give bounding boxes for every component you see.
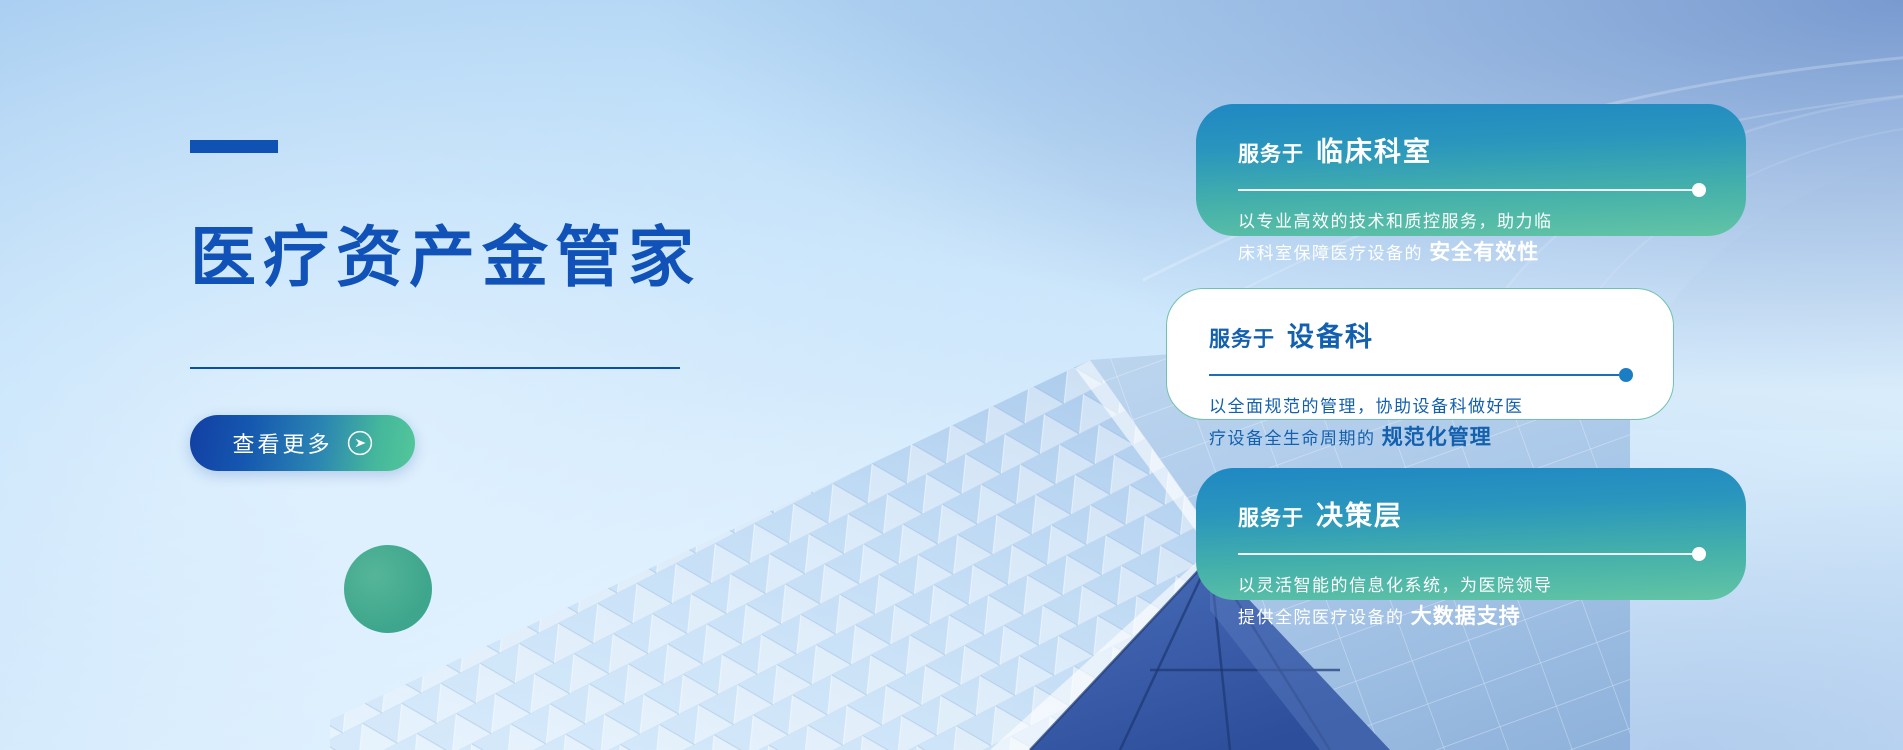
divider-dot bbox=[1619, 368, 1633, 382]
card-body-line-2-plain: 提供全院医疗设备的 bbox=[1238, 608, 1405, 627]
card-body: 以灵活智能的信息化系统，为医院领导 提供全院医疗设备的 大数据支持 bbox=[1238, 572, 1706, 634]
arrow-right-circle-icon bbox=[347, 430, 373, 456]
card-heading-main: 决策层 bbox=[1316, 494, 1403, 533]
page-title: 医疗资产金管家 bbox=[190, 221, 890, 295]
green-circle-decoration bbox=[344, 545, 432, 633]
hero-left-column: 医疗资产金管家 查看更多 bbox=[190, 140, 890, 471]
divider-line bbox=[1209, 374, 1619, 376]
card-heading-prefix: 服务于 bbox=[1209, 323, 1275, 353]
service-card-decision[interactable]: 服务于 决策层 以灵活智能的信息化系统，为医院领导 提供全院医疗设备的 大数据支… bbox=[1196, 468, 1746, 600]
divider-line bbox=[1238, 553, 1692, 555]
card-body-line-2-strong: 大数据支持 bbox=[1411, 605, 1521, 628]
card-heading-prefix: 服务于 bbox=[1238, 502, 1304, 532]
card-divider bbox=[1209, 368, 1633, 382]
card-body-line-2-plain: 床科室保障医疗设备的 bbox=[1238, 244, 1423, 263]
card-body-line-2-strong: 安全有效性 bbox=[1429, 241, 1539, 264]
view-more-label: 查看更多 bbox=[232, 427, 332, 459]
card-body-line-2-plain: 疗设备全生命周期的 bbox=[1209, 429, 1376, 448]
card-divider bbox=[1238, 183, 1706, 197]
divider-dot bbox=[1692, 547, 1706, 561]
divider-line bbox=[1238, 189, 1692, 191]
card-heading: 服务于 设备科 bbox=[1209, 315, 1633, 354]
hero-banner: 医疗资产金管家 查看更多 服务于 临床科室 以专业高效的技术和质控服务，助力临 bbox=[0, 0, 1903, 750]
card-body-line-2: 床科室保障医疗设备的 安全有效性 bbox=[1238, 236, 1706, 270]
card-heading-main: 临床科室 bbox=[1316, 130, 1432, 169]
card-body-line-1: 以专业高效的技术和质控服务，助力临 bbox=[1238, 208, 1706, 236]
card-body: 以专业高效的技术和质控服务，助力临 床科室保障医疗设备的 安全有效性 bbox=[1238, 208, 1706, 270]
card-body-line-2-strong: 规范化管理 bbox=[1382, 426, 1492, 449]
card-body-line-1: 以灵活智能的信息化系统，为医院领导 bbox=[1238, 572, 1706, 600]
card-heading: 服务于 决策层 bbox=[1238, 494, 1706, 533]
service-card-equipment[interactable]: 服务于 设备科 以全面规范的管理，协助设备科做好医 疗设备全生命周期的 规范化管… bbox=[1166, 288, 1674, 420]
service-card-clinical[interactable]: 服务于 临床科室 以专业高效的技术和质控服务，助力临 床科室保障医疗设备的 安全… bbox=[1196, 104, 1746, 236]
card-body-line-2: 提供全院医疗设备的 大数据支持 bbox=[1238, 600, 1706, 634]
horizontal-divider bbox=[190, 367, 680, 369]
card-body-line-1: 以全面规范的管理，协助设备科做好医 bbox=[1209, 393, 1633, 421]
card-divider bbox=[1238, 547, 1706, 561]
card-body: 以全面规范的管理，协助设备科做好医 疗设备全生命周期的 规范化管理 bbox=[1209, 393, 1633, 455]
card-body-line-2: 疗设备全生命周期的 规范化管理 bbox=[1209, 421, 1633, 455]
view-more-button[interactable]: 查看更多 bbox=[190, 415, 415, 471]
accent-dash-decoration bbox=[190, 140, 278, 153]
divider-dot bbox=[1692, 183, 1706, 197]
card-heading: 服务于 临床科室 bbox=[1238, 130, 1706, 169]
card-heading-prefix: 服务于 bbox=[1238, 138, 1304, 168]
card-heading-main: 设备科 bbox=[1287, 315, 1374, 354]
